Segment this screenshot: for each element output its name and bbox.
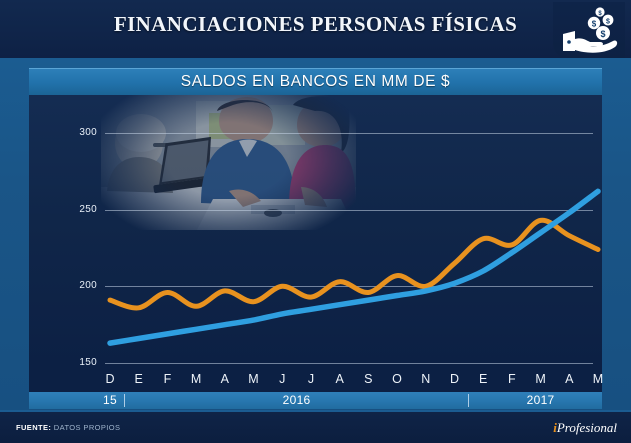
month-label-4: A [215,372,235,386]
header-bar: FINANCIACIONES PERSONAS FÍSICAS $ $ $ $ [0,0,631,58]
publisher-logo-name: Profesional [557,420,617,435]
month-label-13: E [473,372,493,386]
svg-text:$: $ [600,29,605,39]
page-title: FINANCIACIONES PERSONAS FÍSICAS [0,12,631,37]
hand-with-coins-icon: $ $ $ $ [553,2,625,58]
month-label-17: M [588,372,608,386]
month-label-0: D [100,372,120,386]
year-label-2016: 2016 [125,393,469,407]
plot-area: 150200250300 [29,95,602,370]
publisher-logo: iProfesional [553,420,617,436]
chart-panel: SALDOS EN BANCOS EN MM DE $ [0,58,631,410]
month-label-2: F [157,372,177,386]
month-label-7: J [301,372,321,386]
series-line-personales [110,191,598,343]
month-label-16: A [559,372,579,386]
x-axis-months: DEFMAMJJASONDEFMAM [29,370,602,392]
month-label-12: D [444,372,464,386]
chart-subtitle: SALDOS EN BANCOS EN MM DE $ [181,73,450,91]
month-label-1: E [129,372,149,386]
source-label: FUENTE: [16,423,51,432]
source-note: FUENTE: DATOS PROPIOS [16,423,120,432]
svg-text:$: $ [606,19,610,26]
source-value: DATOS PROPIOS [54,423,121,432]
series-line-tarjetas [110,220,598,308]
series-layer [29,95,602,370]
month-label-15: M [531,372,551,386]
month-label-8: A [330,372,350,386]
year-label-15: 15 [96,393,124,407]
chart-subtitle-bar: SALDOS EN BANCOS EN MM DE $ [29,68,602,95]
month-label-11: N [416,372,436,386]
svg-text:$: $ [592,20,597,29]
footer-bar: FUENTE: DATOS PROPIOS iProfesional [0,410,631,443]
month-label-6: J [272,372,292,386]
month-label-9: S [358,372,378,386]
month-label-5: M [244,372,264,386]
infographic-page: FINANCIACIONES PERSONAS FÍSICAS $ $ $ $ [0,0,631,443]
x-axis-years: 1520162017 [29,392,602,409]
month-label-14: F [502,372,522,386]
year-label-2017: 2017 [469,393,612,407]
month-label-3: M [186,372,206,386]
month-label-10: O [387,372,407,386]
